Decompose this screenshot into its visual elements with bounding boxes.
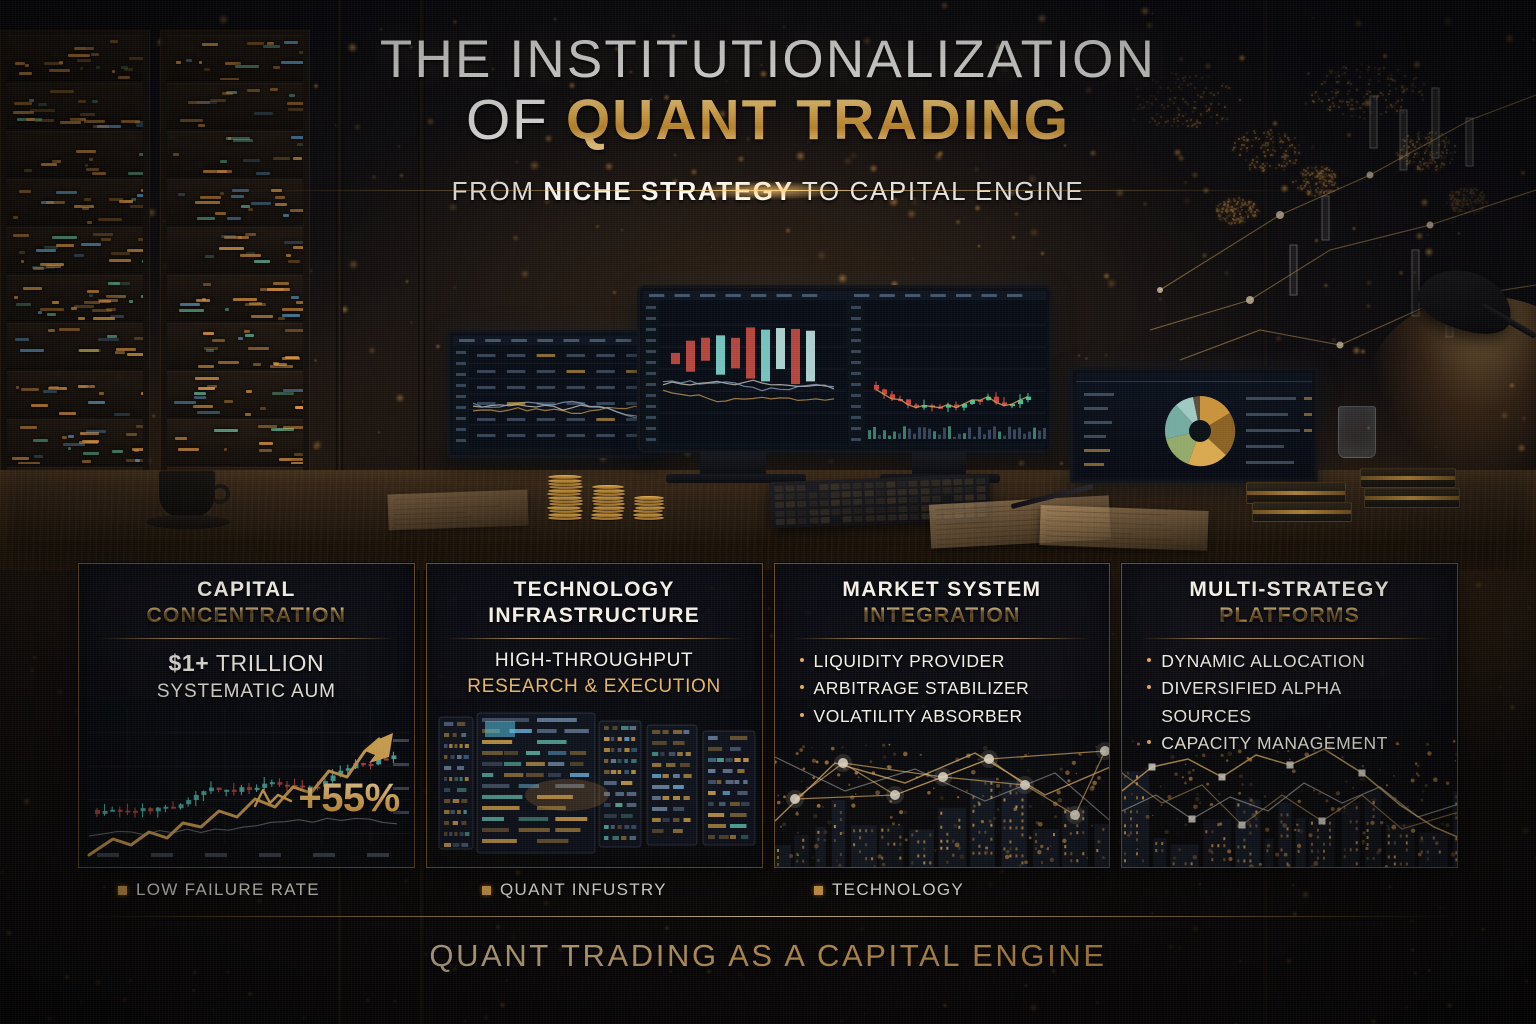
document-sheet (387, 490, 528, 531)
list-item: LIQUIDITY PROVIDER (799, 650, 1096, 673)
legend-item-low-failure-rate: LOW FAILURE RATE (118, 880, 320, 900)
card-multi-strategy-platforms[interactable]: MULTI-STRATEGY PLATFORMS DYNAMIC ALLOCAT… (1121, 563, 1458, 868)
list-item: VOLATILITY ABSORBER (799, 705, 1096, 728)
legend-swatch-icon (482, 886, 491, 895)
feature-cards: CAPITAL CONCENTRATION $1+ TRILLION SYSTE… (78, 563, 1458, 868)
footer-banner: QUANT TRADING AS A CAPITAL ENGINE (0, 930, 1536, 990)
gold-coin-stack (548, 468, 582, 520)
stat-number: $1+ (169, 650, 210, 676)
card-divider (793, 638, 1092, 639)
card-capital-concentration[interactable]: CAPITAL CONCENTRATION $1+ TRILLION SYSTE… (78, 563, 415, 868)
card-title-gold: CONCENTRATION (147, 604, 347, 627)
water-glass (1338, 406, 1376, 458)
list-item: DYNAMIC ALLOCATION (1146, 650, 1443, 673)
trend-squiggle-icon (251, 784, 295, 814)
list-item: CAPACITY MANAGEMENT (1146, 732, 1443, 755)
coffee-saucer (146, 515, 230, 529)
list-item-continuation: SOURCES (1146, 705, 1443, 728)
footer-divider (78, 916, 1458, 917)
monitor-center-trading-terminal[interactable] (637, 285, 1052, 453)
card-technology-infrastructure[interactable]: TECHNOLOGY INFRASTRUCTURE HIGH-THROUGHPU… (426, 563, 763, 868)
coffee-cup (158, 470, 216, 518)
card-title: TECHNOLOGY INFRASTRUCTURE (437, 577, 752, 629)
legend-item-quant-industry: QUANT INFUSTRY (482, 880, 667, 900)
chart-legend: LOW FAILURE RATE QUANT INFUSTRY TECHNOLO… (78, 880, 1458, 912)
gold-coin-stack (592, 478, 624, 520)
card-bullet-list: DYNAMIC ALLOCATION DIVERSIFIED ALPHA SOU… (1132, 650, 1447, 755)
list-item: DIVERSIFIED ALPHA (1146, 677, 1443, 700)
card-divider (1140, 638, 1439, 639)
card-title-gold: INTEGRATION (863, 604, 1020, 627)
card-title-white: CAPITAL (197, 578, 296, 601)
card-market-system-integration[interactable]: MARKET SYSTEM INTEGRATION LIQUIDITY PROV… (774, 563, 1111, 868)
legend-swatch-icon (118, 886, 127, 895)
page-title-line1: THE INSTITUTIONALIZATION (0, 0, 1536, 87)
card-stat-subtitle: SYSTEMATIC AUM (89, 681, 404, 703)
monitor-right-portfolio-dashboard[interactable] (1070, 367, 1318, 483)
cash-bundle (1360, 468, 1456, 488)
coffee-cup-handle (210, 484, 230, 504)
legend-item-technology: TECHNOLOGY (814, 880, 964, 900)
footer-banner-text: QUANT TRADING AS A CAPITAL ENGINE (0, 930, 1536, 974)
card-title-white2: INFRASTRUCTURE (488, 604, 700, 627)
legend-label: TECHNOLOGY (832, 880, 964, 900)
legend-label: QUANT INFUSTRY (500, 880, 667, 900)
document-sheet (1039, 505, 1208, 551)
card-title: CAPITAL CONCENTRATION (89, 577, 404, 629)
legend-label: LOW FAILURE RATE (136, 880, 320, 900)
card-stat-value: $1+ TRILLION (89, 650, 404, 677)
card-title-white: MULTI-STRATEGY (1189, 578, 1390, 601)
header: THE INSTITUTIONALIZATION OF QUANT TRADIN… (0, 0, 1536, 265)
subtitle-pre: FROM (452, 176, 544, 206)
title-divider (230, 190, 1306, 191)
card-title: MULTI-STRATEGY PLATFORMS (1132, 577, 1447, 629)
card-art-server-panels (427, 699, 762, 867)
cash-bundle (1252, 502, 1352, 522)
legend-swatch-icon (814, 886, 823, 895)
card-title: MARKET SYSTEM INTEGRATION (785, 577, 1100, 629)
card-divider (445, 638, 744, 639)
card-title-white: MARKET SYSTEM (842, 578, 1041, 601)
cash-bundle (1364, 488, 1460, 508)
growth-badge-label: +55% (298, 776, 399, 821)
page-title-line2: OF QUANT TRADING (0, 91, 1536, 150)
monitor-left-data-terminal[interactable] (447, 330, 662, 458)
card-line-primary: HIGH-THROUGHPUT (437, 650, 752, 672)
card-bullet-list: LIQUIDITY PROVIDER ARBITRAGE STABILIZER … (785, 650, 1100, 728)
list-item: ARBITRAGE STABILIZER (799, 677, 1096, 700)
page-title-gold: QUANT TRADING (566, 88, 1070, 152)
card-divider (97, 638, 396, 639)
card-title-white: TECHNOLOGY (514, 578, 675, 601)
cash-bundle (1246, 482, 1346, 504)
gold-coin-stack (634, 492, 664, 520)
growth-badge: +55% (251, 776, 399, 821)
portfolio-donut-chart (1076, 373, 1312, 477)
card-line-secondary: RESEARCH & EXECUTION (437, 676, 752, 698)
stat-unit: TRILLION (209, 650, 324, 676)
page-title-of: OF (466, 88, 566, 152)
card-title-gold: PLATFORMS (1219, 604, 1360, 627)
infographic-canvas: THE INSTITUTIONALIZATION OF QUANT TRADIN… (0, 0, 1536, 1024)
